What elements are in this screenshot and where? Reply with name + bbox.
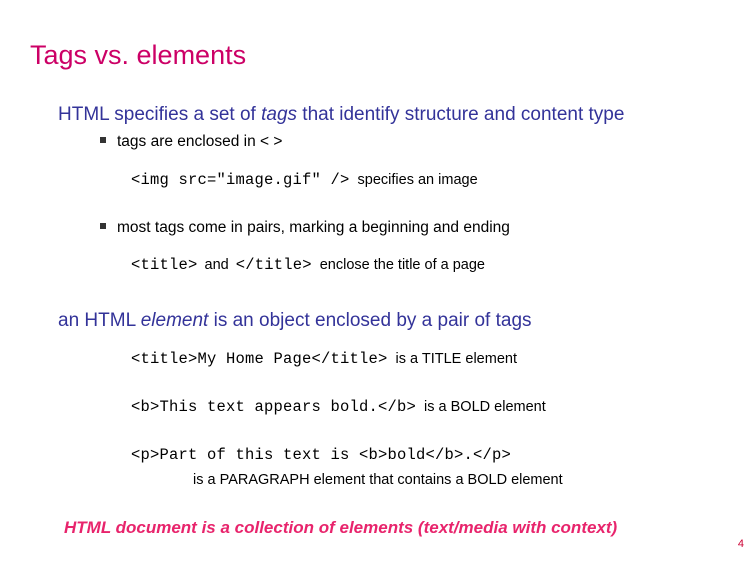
bullet-item-tags-enclosed: tags are enclosed in < > bbox=[100, 133, 282, 151]
example-paragraph-element: <p>Part of this text is <b>bold</b>.</p> bbox=[131, 446, 511, 464]
example-bold-code: <b>This text appears bold.</b> bbox=[131, 398, 416, 416]
example-title-mid: and bbox=[205, 257, 229, 273]
square-bullet-icon bbox=[100, 223, 106, 229]
example-bold-element: <b>This text appears bold.</b>is a BOLD … bbox=[131, 398, 546, 416]
example-title-element-note: is a TITLE element bbox=[396, 351, 517, 367]
heading-element-em: element bbox=[141, 310, 209, 331]
page-number: 4 bbox=[738, 538, 744, 550]
bullet-item-tags-pairs: most tags come in pairs, marking a begin… bbox=[100, 219, 510, 237]
example-bold-note: is a BOLD element bbox=[424, 399, 546, 415]
heading-element-pre: an HTML bbox=[58, 310, 141, 331]
heading-tags-pre: HTML specifies a set of bbox=[58, 104, 261, 125]
heading-element-post: is an object enclosed by a pair of tags bbox=[208, 310, 531, 331]
bullet-label: tags are enclosed in < > bbox=[117, 133, 282, 150]
heading-tags: HTML specifies a set of tags that identi… bbox=[58, 104, 624, 126]
example-title-close: </title> bbox=[236, 256, 312, 274]
example-img-note: specifies an image bbox=[358, 172, 478, 188]
heading-element: an HTML element is an object enclosed by… bbox=[58, 310, 532, 332]
example-img-tag: <img src="image.gif" />specifies an imag… bbox=[131, 171, 478, 189]
example-title-pair: <title>and</title>enclose the title of a… bbox=[131, 256, 485, 274]
example-paragraph-code: <p>Part of this text is <b>bold</b>.</p> bbox=[131, 446, 511, 464]
example-paragraph-note: is a PARAGRAPH element that contains a B… bbox=[193, 472, 563, 488]
slide-footer: HTML document is a collection of element… bbox=[64, 518, 617, 538]
example-title-element-code: <title>My Home Page</title> bbox=[131, 350, 388, 368]
example-title-open: <title> bbox=[131, 256, 198, 274]
example-title-element: <title>My Home Page</title>is a TITLE el… bbox=[131, 350, 517, 368]
square-bullet-icon bbox=[100, 137, 106, 143]
bullet-label: most tags come in pairs, marking a begin… bbox=[117, 219, 510, 236]
heading-tags-em: tags bbox=[261, 104, 297, 125]
example-title-note: enclose the title of a page bbox=[320, 257, 485, 273]
slide: Tags vs. elements HTML specifies a set o… bbox=[0, 0, 756, 576]
heading-tags-post: that identify structure and content type bbox=[297, 104, 624, 125]
example-img-code: <img src="image.gif" /> bbox=[131, 171, 350, 189]
page-title: Tags vs. elements bbox=[30, 40, 246, 71]
